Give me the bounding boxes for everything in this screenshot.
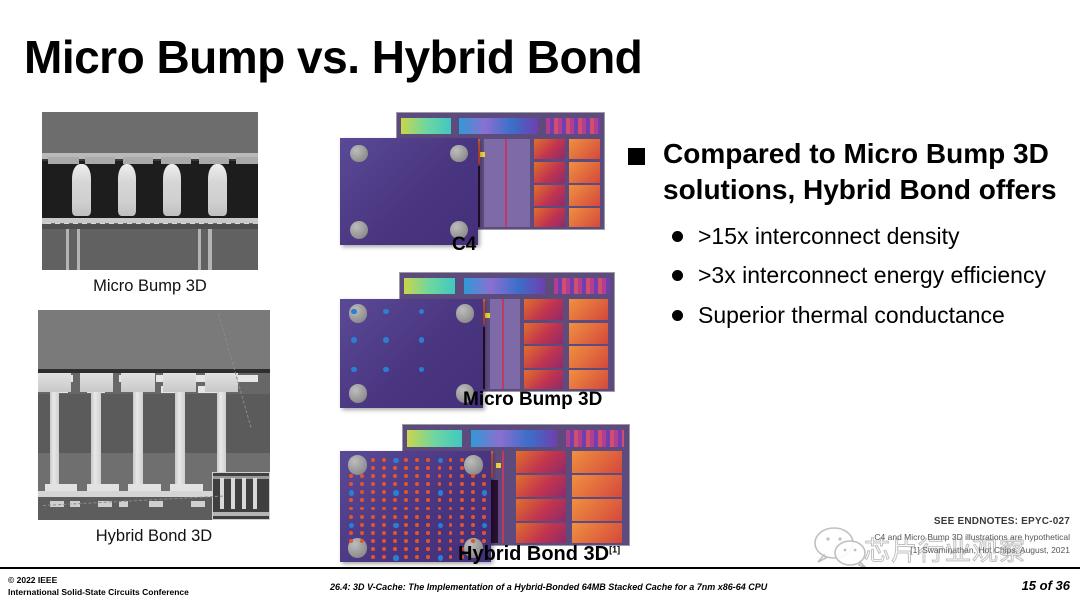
- hybrid-bond-dot: [371, 531, 375, 535]
- micro-bump-3d-label: Micro Bump 3D: [463, 389, 602, 411]
- hybrid-bond-dot: [393, 539, 397, 543]
- hybrid-bond-dot: [426, 539, 430, 543]
- hybrid-bond-dot: [393, 507, 397, 511]
- hybrid-bond-dot: [393, 466, 397, 470]
- hybrid-bond-dot: [415, 458, 419, 462]
- sub-bullet-text: >3x interconnect energy efficiency: [698, 261, 1046, 290]
- hybrid-bond-dot: [482, 515, 486, 519]
- hybrid-bond-dot: [404, 547, 408, 551]
- hybrid-bond-dot: [404, 474, 408, 478]
- list-item: >3x interconnect energy efficiency: [672, 261, 1068, 290]
- hybrid-bond-dot: [460, 474, 464, 478]
- hybrid-bond-dot: [393, 474, 397, 478]
- micro-bump-dot: [438, 523, 443, 528]
- hybrid-bond-dot: [426, 490, 430, 494]
- hybrid-bond-dot: [460, 458, 464, 462]
- hybrid-bond-dot: [371, 490, 375, 494]
- hybrid-bond-dot: [449, 474, 453, 478]
- hybrid-bond-dot: [415, 515, 419, 519]
- footer-divider: [0, 567, 1080, 569]
- micro-bump-dot: [393, 458, 398, 463]
- micro-bump-3d-caption: Micro Bump 3D: [42, 277, 258, 296]
- hybrid-bond-dot: [426, 523, 430, 527]
- hybrid-bond-dot: [404, 523, 408, 527]
- micro-bump-dot: [393, 490, 398, 495]
- round-bullet-icon: [672, 231, 683, 242]
- page-number: 15 of 36: [1022, 578, 1070, 593]
- hybrid-bond-dot: [471, 507, 475, 511]
- hybrid-bond-dot: [360, 482, 364, 486]
- footnote-line-1: C4 and Micro Bump 3D illustrations are h…: [874, 531, 1070, 544]
- hybrid-bond-dot: [349, 515, 353, 519]
- round-bullet-icon: [672, 310, 683, 321]
- hybrid-bond-dot: [415, 474, 419, 478]
- hybrid-bond-dot: [460, 490, 464, 494]
- hybrid-bond-dot: [471, 490, 475, 494]
- hybrid-bond-dot: [426, 482, 430, 486]
- hybrid-bond-dot: [371, 555, 375, 559]
- hybrid-bond-dot: [460, 523, 464, 527]
- wechat-logo-icon: [812, 527, 872, 569]
- hybrid-bond-dot: [449, 539, 453, 543]
- hybrid-bond-dot: [393, 531, 397, 535]
- hybrid-bond-dot: [449, 482, 453, 486]
- hybrid-bond-dot: [482, 531, 486, 535]
- hybrid-bond-dot: [371, 466, 375, 470]
- hybrid-bond-dot: [404, 555, 408, 559]
- hybrid-bond-dot: [460, 498, 464, 502]
- hybrid-bond-dot: [426, 458, 430, 462]
- micro-bump-dot: [482, 523, 487, 528]
- copyright-line-1: © 2022 IEEE: [8, 574, 189, 586]
- hybrid-bond-dot: [404, 515, 408, 519]
- micro-bump-dot: [438, 458, 443, 463]
- footnote-block: C4 and Micro Bump 3D illustrations are h…: [874, 531, 1070, 557]
- hybrid-bond-dot: [360, 515, 364, 519]
- c4-label: C4: [452, 234, 476, 256]
- hybrid-bond-dot: [415, 531, 419, 535]
- hybrid-bond-dot: [404, 539, 408, 543]
- hybrid-bond-dot: [360, 498, 364, 502]
- micro-bump-dot: [349, 490, 354, 495]
- hybrid-bond-dot: [460, 507, 464, 511]
- hybrid-bond-dot: [438, 466, 442, 470]
- hybrid-bond-dot: [426, 531, 430, 535]
- sub-bullet-text: >15x interconnect density: [698, 222, 959, 251]
- hybrid-bond-dot: [371, 474, 375, 478]
- copyright-block: © 2022 IEEE International Solid-State Ci…: [8, 574, 189, 599]
- hybrid-bond-dot: [449, 547, 453, 551]
- sub-bullet-list: >15x interconnect density >3x interconne…: [672, 222, 1068, 330]
- hybrid-bond-dot: [438, 547, 442, 551]
- hybrid-bond-dot: [426, 515, 430, 519]
- hybrid-bond-3d-label: Hybrid Bond 3D[1]: [458, 543, 620, 566]
- hybrid-bond-dot: [482, 482, 486, 486]
- hybrid-bond-dot: [438, 474, 442, 478]
- hybrid-bond-dot: [371, 523, 375, 527]
- micro-bump-dot: [482, 490, 487, 495]
- hybrid-bond-dot: [371, 482, 375, 486]
- c4-bump-overlay: [340, 138, 478, 245]
- hybrid-bond-dot: [415, 466, 419, 470]
- hybrid-bond-dot: [449, 515, 453, 519]
- hybrid-bond-dot: [382, 466, 386, 470]
- hybrid-bond-dot: [471, 498, 475, 502]
- hybrid-bond-dot: [460, 466, 464, 470]
- round-bullet-icon: [672, 270, 683, 281]
- hybrid-bond-dot: [449, 490, 453, 494]
- hybrid-bond-dot: [415, 490, 419, 494]
- micro-bump-dot: [438, 555, 443, 560]
- see-endnotes-text: SEE ENDNOTES: EPYC-027: [934, 516, 1070, 527]
- hybrid-bond-dot: [382, 531, 386, 535]
- hybrid-bond-dot: [471, 482, 475, 486]
- hybrid-bond-dot: [449, 458, 453, 462]
- hybrid-bond-dot: [382, 490, 386, 494]
- hybrid-bond-dot: [393, 547, 397, 551]
- hybrid-bond-dot: [415, 539, 419, 543]
- hybrid-bond-dot: [382, 539, 386, 543]
- hybrid-bond-dot: [371, 539, 375, 543]
- hybrid-bond-dot: [371, 547, 375, 551]
- hybrid-bond-dot: [371, 498, 375, 502]
- hybrid-bond-dot: [349, 531, 353, 535]
- hybrid-bond-dot: [438, 539, 442, 543]
- micro-bump-dot: [393, 523, 398, 528]
- footnote-line-2: [1] Swaminathan, Hot Chips, August, 2021: [874, 544, 1070, 557]
- hybrid-bond-dot: [393, 498, 397, 502]
- hybrid-bond-dot: [438, 515, 442, 519]
- hybrid-bond-dot: [471, 474, 475, 478]
- hybrid-bond-dot: [404, 458, 408, 462]
- hybrid-bond-dot: [382, 523, 386, 527]
- hybrid-bond-dot: [404, 498, 408, 502]
- hybrid-bond-dot: [404, 466, 408, 470]
- hybrid-bond-dot: [426, 474, 430, 478]
- micro-bump-3d-sem-image: [42, 112, 258, 270]
- micro-bump-dot: [349, 523, 354, 528]
- hybrid-bond-dot: [382, 458, 386, 462]
- hybrid-bond-dot: [360, 523, 364, 527]
- hybrid-bond-dot: [449, 498, 453, 502]
- hybrid-bond-dot: [349, 498, 353, 502]
- hybrid-bond-dot: [360, 474, 364, 478]
- hybrid-bond-dot: [426, 547, 430, 551]
- sub-bullet-text: Superior thermal conductance: [698, 301, 1005, 330]
- micro-bump-dot: [393, 555, 398, 560]
- hybrid-bond-dot: [349, 507, 353, 511]
- hybrid-bond-3d-die-figure: Hybrid Bond 3D[1]: [340, 424, 630, 574]
- micro-bump-dot: [438, 490, 443, 495]
- hybrid-bond-dot: [415, 507, 419, 511]
- hybrid-bond-dot: [393, 482, 397, 486]
- hybrid-bond-dot: [371, 458, 375, 462]
- hybrid-bond-dot: [482, 507, 486, 511]
- paper-title: 26.4: 3D V-Cache: The Implementation of …: [330, 582, 767, 592]
- hybrid-bond-dot: [349, 482, 353, 486]
- hybrid-bond-dot: [415, 523, 419, 527]
- hybrid-bond-dot: [382, 515, 386, 519]
- hybrid-bond-dot: [460, 531, 464, 535]
- hybrid-bond-dot: [382, 482, 386, 486]
- hybrid-bond-dot: [438, 531, 442, 535]
- main-bullet: Compared to Micro Bump 3D solutions, Hyb…: [628, 136, 1068, 208]
- hybrid-bond-dot: [371, 515, 375, 519]
- hybrid-bond-dot: [382, 498, 386, 502]
- hybrid-bond-dot: [349, 474, 353, 478]
- hybrid-bond-dot: [382, 507, 386, 511]
- hybrid-bond-dot: [449, 555, 453, 559]
- hybrid-bond-dot: [471, 531, 475, 535]
- page-title: Micro Bump vs. Hybrid Bond: [24, 30, 642, 84]
- hybrid-bond-dot: [426, 555, 430, 559]
- hybrid-bond-dot: [438, 507, 442, 511]
- hybrid-bond-3d-sem-image: [38, 310, 270, 520]
- hybrid-bond-dot: [415, 498, 419, 502]
- hybrid-bond-dot: [449, 466, 453, 470]
- hybrid-bond-dot: [349, 539, 353, 543]
- hybrid-bond-dot: [371, 507, 375, 511]
- hybrid-bond-dot: [404, 507, 408, 511]
- hybrid-bond-dot: [404, 490, 408, 494]
- hybrid-bond-dot: [360, 490, 364, 494]
- hybrid-bond-dot: [360, 507, 364, 511]
- hybrid-bond-dot: [471, 523, 475, 527]
- bullet-list: Compared to Micro Bump 3D solutions, Hyb…: [628, 136, 1068, 340]
- hybrid-bond-dot: [382, 555, 386, 559]
- hybrid-bond-dot: [482, 498, 486, 502]
- hybrid-bond-dot: [449, 523, 453, 527]
- list-item: >15x interconnect density: [672, 222, 1068, 251]
- hybrid-bond-dot: [471, 515, 475, 519]
- hybrid-bond-dot: [460, 515, 464, 519]
- micro-bump-3d-die-figure: Micro Bump 3D: [340, 272, 615, 420]
- hybrid-bond-dot: [415, 547, 419, 551]
- square-bullet-icon: [628, 148, 645, 165]
- hybrid-bond-3d-caption: Hybrid Bond 3D: [38, 527, 270, 546]
- c4-die-figure: C4: [340, 112, 605, 257]
- hybrid-bond-dot: [426, 498, 430, 502]
- hybrid-bond-dot: [382, 474, 386, 478]
- hybrid-bond-dot: [360, 539, 364, 543]
- main-bullet-text: Compared to Micro Bump 3D solutions, Hyb…: [663, 136, 1068, 208]
- hybrid-bond-dot: [415, 482, 419, 486]
- hybrid-bond-dot: [382, 547, 386, 551]
- copyright-line-2: International Solid-State Circuits Confe…: [8, 586, 189, 598]
- slide-canvas: Micro Bump vs. Hybrid Bond: [0, 0, 1080, 605]
- hybrid-bond-dot: [438, 482, 442, 486]
- hybrid-bond-dot: [393, 515, 397, 519]
- hybrid-bond-dot: [449, 507, 453, 511]
- micro-bump-overlay: [340, 299, 483, 409]
- hybrid-bond-dot: [426, 507, 430, 511]
- hybrid-bond-dot: [404, 531, 408, 535]
- hybrid-bond-dot: [426, 466, 430, 470]
- hybrid-bond-dot: [438, 498, 442, 502]
- reference-marker: [1]: [609, 544, 620, 554]
- hybrid-bond-dot: [404, 482, 408, 486]
- hybrid-bond-dot: [360, 531, 364, 535]
- hybrid-bond-dot: [415, 555, 419, 559]
- hybrid-bond-dot: [449, 531, 453, 535]
- hybrid-bond-dot: [482, 474, 486, 478]
- hybrid-bond-dot: [460, 482, 464, 486]
- list-item: Superior thermal conductance: [672, 301, 1068, 330]
